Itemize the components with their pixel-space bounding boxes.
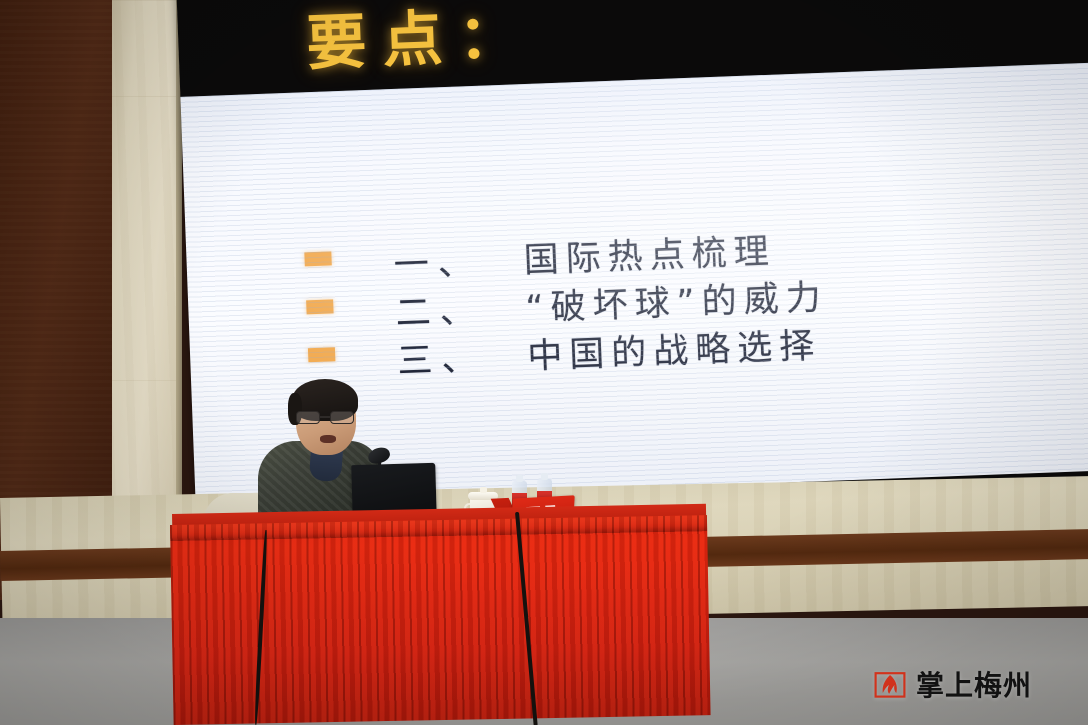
speaker-mouth: [320, 435, 336, 443]
bullet-square-icon: [304, 251, 332, 266]
bullet-number: 一、: [393, 243, 482, 286]
slide-bullet-list: 一、国际热点梳理 二、“破坏球”的威力 三、中国的战略选择: [304, 212, 1069, 384]
photo-scene: 要点： 一、国际热点梳理 二、“破坏球”的威力: [0, 0, 1088, 725]
slide-title: 要点：: [305, 0, 536, 82]
glasses-bridge: [320, 416, 330, 418]
flame-book-logo-icon: [872, 666, 908, 702]
glasses-lens-left: [296, 411, 320, 424]
bullet-square-icon: [308, 347, 336, 362]
glasses-icon: [296, 411, 354, 424]
table-skirt: [170, 515, 711, 725]
bullet-label: 中国的战略选择: [527, 326, 822, 377]
watermark: 掌上梅州: [872, 664, 1032, 704]
glasses-lens-right: [330, 411, 354, 424]
bullet-square-icon: [306, 299, 334, 314]
watermark-text: 掌上梅州: [916, 664, 1032, 704]
bullet-number: 三、: [397, 339, 486, 382]
teacup-knob: [480, 487, 487, 493]
bullet-number: 二、: [395, 291, 484, 334]
